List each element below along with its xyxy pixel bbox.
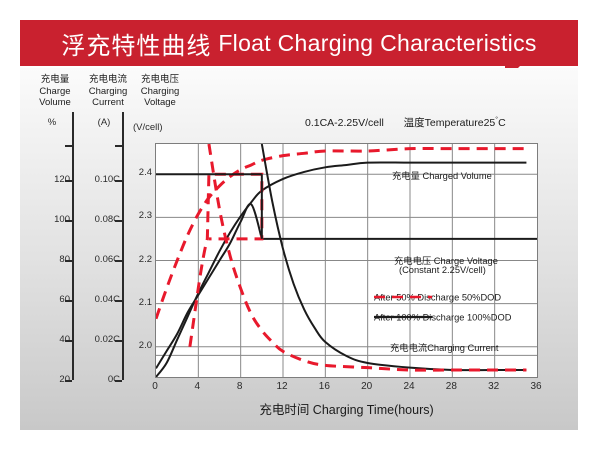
unit-charging-voltage: (V/cell) bbox=[133, 122, 183, 133]
annotation-charge-voltage-sub: (Constant 2.25V/cell) bbox=[399, 265, 486, 275]
banner-title: 浮充特性曲线 Float Charging Characteristics bbox=[20, 20, 578, 66]
legend-entry-50dod: After 50% Discharge 50%DOD bbox=[374, 292, 501, 303]
annotation-charging-current: 充电电流Charging Current bbox=[390, 340, 499, 354]
axis-header-charge-volume-en2: Volume bbox=[30, 97, 80, 109]
plot-area: 充电量 Charged Volume 充电电压 Charge Voltage (… bbox=[155, 143, 538, 378]
axis-tick-label: 0C bbox=[76, 374, 120, 385]
axis-tick-label: 0.10C bbox=[76, 174, 120, 185]
axis-tick-label: 2.1 bbox=[126, 297, 152, 308]
axis-header-charge-volume-cn: 充电量 bbox=[30, 74, 80, 86]
x-axis-tick-label: 4 bbox=[185, 381, 209, 392]
axis-header-charging-voltage-cn: 充电电压 bbox=[134, 74, 186, 86]
axis-tick-label: 0.04C bbox=[76, 294, 120, 305]
axis-tick-label: 0.08C bbox=[76, 214, 120, 225]
top-note: 0.1CA-2.25V/cell 温度Temperature25°C bbox=[305, 115, 506, 130]
axis-tick bbox=[115, 145, 122, 147]
top-note-condition: 0.1CA-2.25V/cell bbox=[305, 117, 384, 129]
axis-header-charge-volume-en1: Charge bbox=[30, 86, 80, 98]
x-axis-tick-label: 32 bbox=[482, 381, 506, 392]
axis-header-charging-current-en1: Charging bbox=[82, 86, 134, 98]
x-axis-tick-label: 20 bbox=[355, 381, 379, 392]
series-charging-voltage-solid-rise bbox=[156, 204, 262, 368]
axis-tick-label: 2.3 bbox=[126, 210, 152, 221]
x-axis-title: 充电时间 Charging Time(hours) bbox=[155, 399, 538, 418]
top-note-temperature-cn: 温度 bbox=[404, 117, 425, 129]
x-axis-tick-label: 16 bbox=[312, 381, 336, 392]
top-note-temperature-unit: C bbox=[498, 117, 506, 129]
axis-tick-label: 40 bbox=[26, 334, 70, 345]
x-axis-tick-label: 28 bbox=[439, 381, 463, 392]
annotation-charged-volume-cn: 充电量 bbox=[392, 171, 420, 181]
axis-tick-label: 0.06C bbox=[76, 254, 120, 265]
top-note-temperature-en: Temperature25 bbox=[425, 117, 496, 129]
axis-tick-label: 2.4 bbox=[126, 167, 152, 178]
x-axis-tick-label: 0 bbox=[143, 381, 167, 392]
legend-swatch-solid-icon bbox=[374, 312, 432, 322]
annotation-charged-volume: 充电量 Charged Volume bbox=[392, 168, 492, 182]
axis-spine-charge-volume bbox=[72, 112, 74, 380]
axis-header-charging-voltage-en2: Voltage bbox=[134, 97, 186, 109]
title-banner: 浮充特性曲线 Float Charging Characteristics bbox=[20, 20, 578, 66]
axis-header-charging-current-cn: 充电电流 bbox=[82, 74, 134, 86]
unit-charge-volume: % bbox=[32, 117, 72, 128]
legend-swatch-dashed-icon bbox=[374, 292, 432, 302]
legend-entry-100dod: After 100% Discharge 100%DOD bbox=[374, 312, 511, 323]
axis-tick-label: 60 bbox=[26, 294, 70, 305]
axis-spine-charging-current bbox=[122, 112, 124, 380]
axis-tick bbox=[65, 145, 72, 147]
banner-title-en: Float Charging Characteristics bbox=[218, 30, 536, 57]
chart-page: 浮充特性曲线 Float Charging Characteristics 充电… bbox=[0, 0, 600, 451]
axis-header-charging-current-en2: Current bbox=[82, 97, 134, 109]
axis-tick-label: 2.2 bbox=[126, 254, 152, 265]
annotation-charged-volume-en: Charged Volume bbox=[423, 171, 492, 181]
x-axis-tick-label: 24 bbox=[397, 381, 421, 392]
axis-header-charge-volume: 充电量 Charge Volume bbox=[30, 74, 80, 109]
axis-tick-label: 120 bbox=[26, 174, 70, 185]
axis-tick-label: 80 bbox=[26, 254, 70, 265]
x-axis-tick-label: 8 bbox=[228, 381, 252, 392]
axis-tick-label: 20 bbox=[26, 374, 70, 385]
axis-header-charging-voltage: 充电电压 Charging Voltage bbox=[134, 74, 186, 109]
unit-charging-current: (A) bbox=[84, 117, 124, 128]
banner-title-cn: 浮充特性曲线 bbox=[61, 26, 211, 61]
axis-tick-label: 0.02C bbox=[76, 334, 120, 345]
x-axis-tick-label: 12 bbox=[270, 381, 294, 392]
axis-header-charging-current: 充电电流 Charging Current bbox=[82, 74, 134, 109]
axis-header-charging-voltage-en1: Charging bbox=[134, 86, 186, 98]
axis-tick-label: 2.0 bbox=[126, 340, 152, 351]
axis-tick-label: 100 bbox=[26, 214, 70, 225]
x-axis-tick-label: 36 bbox=[524, 381, 548, 392]
annotation-charging-current-en: Charging Current bbox=[427, 343, 498, 353]
annotation-charging-current-cn: 充电电流 bbox=[390, 343, 427, 353]
